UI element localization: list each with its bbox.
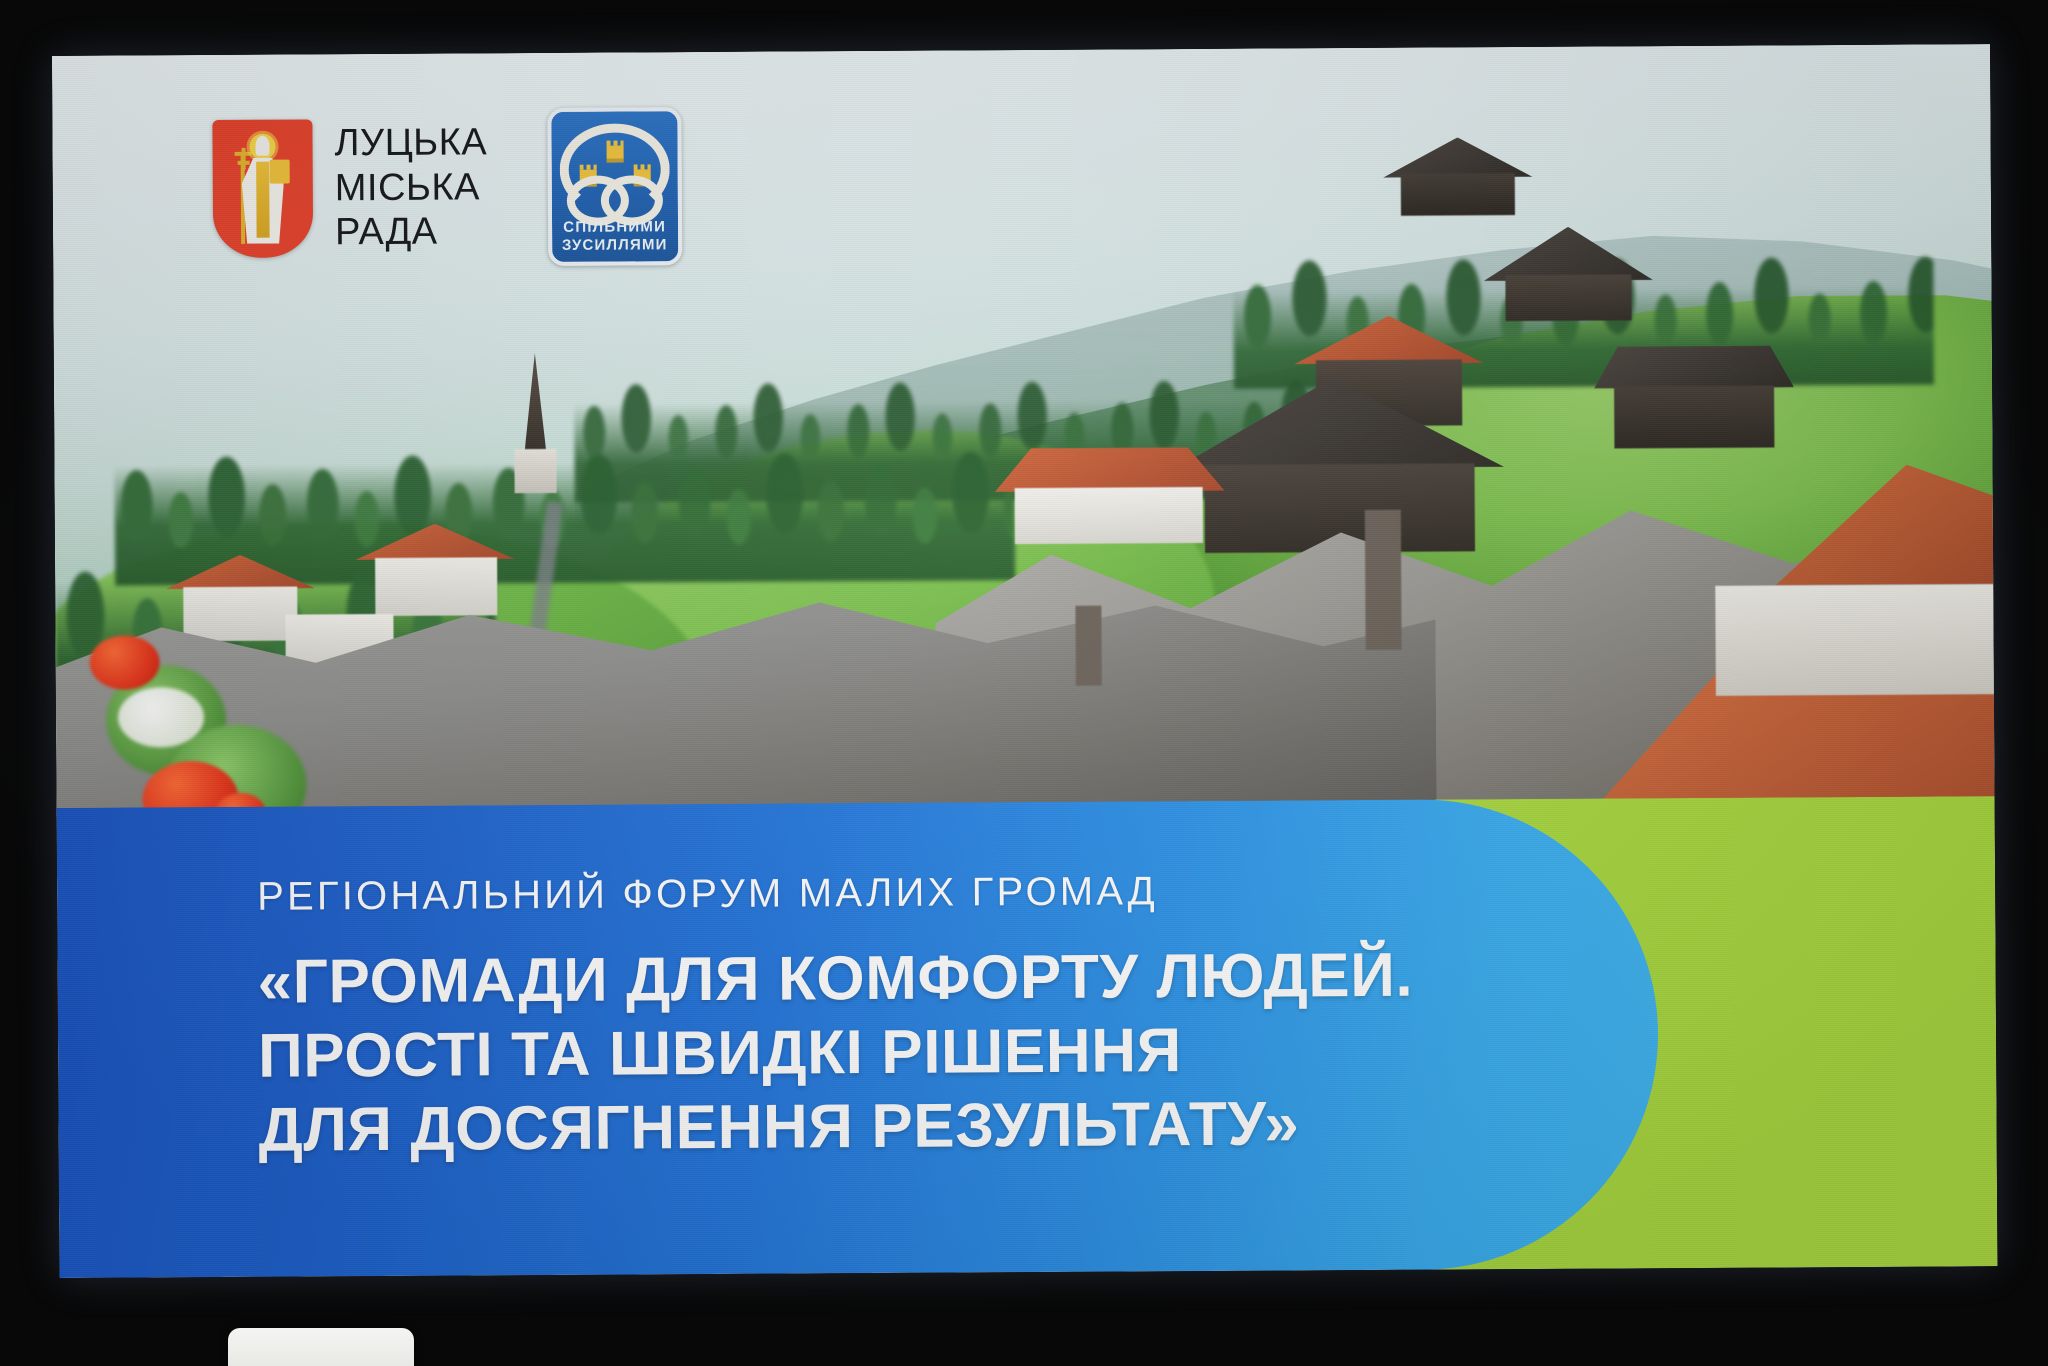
- auc-badge-icon: СПІЛЬНИМИ ЗУСИЛЛЯМИ: [547, 107, 682, 266]
- infinity-knot-icon: [566, 175, 662, 210]
- forum-kicker: РЕГІОНАЛЬНИЙ ФОРУМ МАЛИХ ГРОМАД: [257, 868, 1413, 920]
- chalet-wall-upper-right-1: [1505, 274, 1631, 321]
- house-wall-left-1: [375, 557, 497, 616]
- church-body: [514, 449, 556, 493]
- forum-headline: «ГРОМАДИ ДЛЯ КОМФОРТУ ЛЮДЕЙ. ПРОСТІ ТА Ш…: [257, 939, 1414, 1167]
- saint-nicholas-figure: [231, 134, 294, 246]
- slide-canvas: ЛУЦЬКА МІСЬКА РАДА СПІЛЬНИМИ ЗУСИЛЛЯМИ: [52, 44, 1997, 1278]
- house-wall-left-2: [183, 587, 297, 642]
- banner-text-block: РЕГІОНАЛЬНИЙ ФОРУМ МАЛИХ ГРОМАД «ГРОМАДИ…: [257, 868, 1414, 1167]
- bottom-overlay-chip[interactable]: [228, 1328, 414, 1366]
- tower-icon-top: [606, 146, 623, 163]
- foreground-wall-right: [1715, 584, 1994, 696]
- chalet-roof-upper-right-3: [1594, 345, 1794, 388]
- bottom-overlay-chip-label: [228, 1328, 414, 1360]
- foreground-geranium-planter: [96, 634, 327, 816]
- chimney-secondary: [1075, 606, 1101, 686]
- chimney-main: [1365, 510, 1402, 650]
- logo-bar: ЛУЦЬКА МІСЬКА РАДА СПІЛЬНИМИ ЗУСИЛЛЯМИ: [212, 107, 682, 268]
- chalet-wall-top-right: [1401, 173, 1515, 216]
- chalet-wall-left-white: [1015, 487, 1203, 544]
- lutsk-city-council-label: ЛУЦЬКА МІСЬКА РАДА: [334, 120, 487, 255]
- auc-badge-label: СПІЛЬНИМИ ЗУСИЛЛЯМИ: [552, 218, 678, 256]
- chalet-roof-left-red: [994, 447, 1224, 492]
- white-flower-cluster: [118, 687, 204, 748]
- slide-photo: ЛУЦЬКА МІСЬКА РАДА СПІЛЬНИМИ ЗУСИЛЛЯМИ: [52, 44, 1995, 816]
- lutsk-coat-of-arms-icon: [212, 119, 313, 258]
- lutsk-city-council-logo: ЛУЦЬКА МІСЬКА РАДА: [212, 118, 487, 258]
- screen-capture: ЛУЦЬКА МІСЬКА РАДА СПІЛЬНИМИ ЗУСИЛЛЯМИ: [0, 0, 2048, 1366]
- gospel-book-icon: [270, 160, 290, 184]
- red-geranium-top: [90, 635, 160, 689]
- stole-shape: [256, 162, 269, 238]
- projected-slide: ЛУЦЬКА МІСЬКА РАДА СПІЛЬНИМИ ЗУСИЛЛЯМИ: [52, 44, 1997, 1278]
- chalet-wall-upper-right-3: [1614, 385, 1774, 448]
- cross-icon: [235, 148, 252, 170]
- mitre-icon: [255, 136, 269, 156]
- slide-banner: РЕГІОНАЛЬНИЙ ФОРУМ МАЛИХ ГРОМАД «ГРОМАДИ…: [57, 796, 1998, 1278]
